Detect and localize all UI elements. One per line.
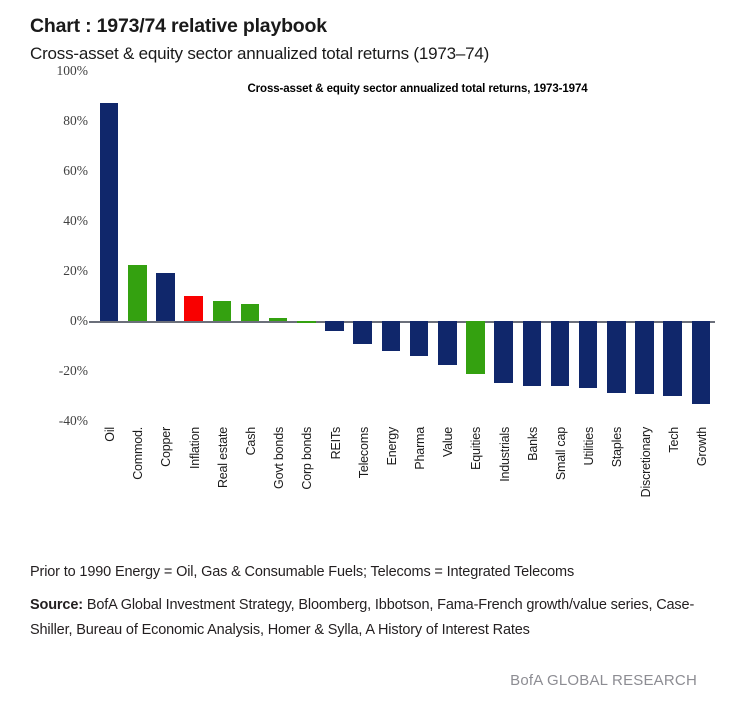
source-line: Source: BofA Global Investment Strategy,… xyxy=(30,593,730,644)
x-axis-label-slot: Utilities xyxy=(574,423,602,535)
x-axis-label: Value xyxy=(441,427,455,457)
x-axis-label-slot: Inflation xyxy=(180,423,208,535)
bar xyxy=(410,321,429,356)
x-axis-label: Small cap xyxy=(554,427,568,480)
bar-slot xyxy=(438,71,457,421)
source-text: BofA Global Investment Strategy, Bloombe… xyxy=(30,597,694,638)
x-axis-label: Equities xyxy=(469,427,483,470)
bar-slot xyxy=(353,71,372,421)
footer: Prior to 1990 Energy = Oil, Gas & Consum… xyxy=(30,562,730,644)
bar-slot xyxy=(184,71,203,421)
bar xyxy=(551,321,570,386)
x-axis-label: Utilities xyxy=(582,427,596,465)
bar-slot xyxy=(579,71,598,421)
x-axis-label-slot: Telecoms xyxy=(349,423,377,535)
x-axis-label-slot: Growth xyxy=(687,423,715,535)
y-axis-tick: 60% xyxy=(63,163,88,179)
bar xyxy=(269,318,288,322)
bar xyxy=(241,304,260,322)
plot-area xyxy=(95,71,715,421)
bar xyxy=(523,321,542,386)
x-axis-label: Inflation xyxy=(188,427,202,469)
x-axis-label: Industrials xyxy=(498,427,512,482)
x-axis-label-slot: Energy xyxy=(377,423,405,535)
x-axis-label-slot: Equities xyxy=(461,423,489,535)
bar xyxy=(213,301,232,321)
bar xyxy=(579,321,598,387)
y-axis-tick: -40% xyxy=(59,413,88,429)
bar-slot xyxy=(128,71,147,421)
x-axis-label-slot: Tech xyxy=(659,423,687,535)
x-axis-label: Commod. xyxy=(131,427,145,480)
chart-page: Chart : 1973/74 relative playbook Cross-… xyxy=(0,0,755,710)
bar-slot xyxy=(325,71,344,421)
bar xyxy=(156,273,175,322)
x-axis-label: Cash xyxy=(244,427,258,455)
x-axis-label-slot: Copper xyxy=(151,423,179,535)
bar-slot xyxy=(213,71,232,421)
bar xyxy=(325,321,344,331)
header: Chart : 1973/74 relative playbook Cross-… xyxy=(0,0,755,65)
x-axis-label: Copper xyxy=(159,427,173,467)
bar xyxy=(663,321,682,396)
y-axis-tick: 80% xyxy=(63,113,88,129)
x-axis-label: Telecoms xyxy=(357,427,371,478)
x-axis-label: Oil xyxy=(103,427,117,442)
bar xyxy=(100,103,119,322)
bar xyxy=(297,321,316,323)
bar xyxy=(494,321,513,382)
x-axis-label: Corp bonds xyxy=(300,427,314,490)
bar-slot xyxy=(692,71,711,421)
x-axis-label-slot: Real estate xyxy=(208,423,236,535)
x-axis-label-slot: Cash xyxy=(236,423,264,535)
bar-slot xyxy=(410,71,429,421)
y-axis-tick: 100% xyxy=(57,63,89,79)
bar xyxy=(438,321,457,365)
bar-slot xyxy=(100,71,119,421)
x-axis-label: Discretionary xyxy=(639,427,653,497)
bar xyxy=(128,265,147,321)
bar-slot xyxy=(551,71,570,421)
x-axis-label: Govt bonds xyxy=(272,427,286,489)
x-axis-label: REITs xyxy=(329,427,343,459)
x-axis-label-slot: Oil xyxy=(95,423,123,535)
bar xyxy=(692,321,711,404)
y-axis-tick: -20% xyxy=(59,363,88,379)
bar-slot xyxy=(156,71,175,421)
x-axis-label: Tech xyxy=(667,427,681,453)
x-axis-label-slot: Small cap xyxy=(546,423,574,535)
bar-slot xyxy=(269,71,288,421)
x-axis-label-slot: Value xyxy=(433,423,461,535)
bar-slot xyxy=(297,71,316,421)
footnote: Prior to 1990 Energy = Oil, Gas & Consum… xyxy=(30,562,730,583)
x-axis-label-slot: Staples xyxy=(602,423,630,535)
x-axis-label: Staples xyxy=(610,427,624,467)
x-axis-label-slot: Corp bonds xyxy=(292,423,320,535)
x-axis-label-slot: Industrials xyxy=(490,423,518,535)
x-axis-label-slot: Discretionary xyxy=(630,423,658,535)
bar-slot xyxy=(523,71,542,421)
bar-slot xyxy=(466,71,485,421)
bar-series xyxy=(95,71,715,421)
x-axis-label-slot: Commod. xyxy=(123,423,151,535)
bar-slot xyxy=(635,71,654,421)
source-label: Source: xyxy=(30,597,83,613)
x-axis-label-slot: Pharma xyxy=(405,423,433,535)
bar xyxy=(607,321,626,392)
x-axis-label: Pharma xyxy=(413,427,427,470)
bar-slot xyxy=(241,71,260,421)
bar xyxy=(635,321,654,394)
x-axis-labels: OilCommod.CopperInflationReal estateCash… xyxy=(95,423,715,535)
x-axis-label: Real estate xyxy=(216,427,230,488)
bar-slot xyxy=(494,71,513,421)
x-axis-label-slot: Banks xyxy=(518,423,546,535)
y-axis-tick: 0% xyxy=(70,313,88,329)
chart-container: Cross-asset & equity sector annualized t… xyxy=(0,71,755,536)
y-axis: 100%80%60%40%20%0%-20%-40% xyxy=(30,71,88,421)
y-axis-tick: 40% xyxy=(63,213,88,229)
y-axis-tick: 20% xyxy=(63,263,88,279)
brand-label: BofA GLOBAL RESEARCH xyxy=(510,672,697,689)
x-axis-label-slot: REITs xyxy=(320,423,348,535)
bar-slot xyxy=(663,71,682,421)
page-subtitle: Cross-asset & equity sector annualized t… xyxy=(30,43,755,65)
bar-slot xyxy=(607,71,626,421)
bar xyxy=(184,296,203,321)
bar xyxy=(466,321,485,374)
page-title: Chart : 1973/74 relative playbook xyxy=(30,14,755,38)
x-axis-label: Growth xyxy=(695,427,709,466)
x-axis-label: Banks xyxy=(526,427,540,461)
bar-slot xyxy=(382,71,401,421)
x-axis-label-slot: Govt bonds xyxy=(264,423,292,535)
bar xyxy=(353,321,372,344)
bar xyxy=(382,321,401,351)
x-axis-label: Energy xyxy=(385,427,399,465)
